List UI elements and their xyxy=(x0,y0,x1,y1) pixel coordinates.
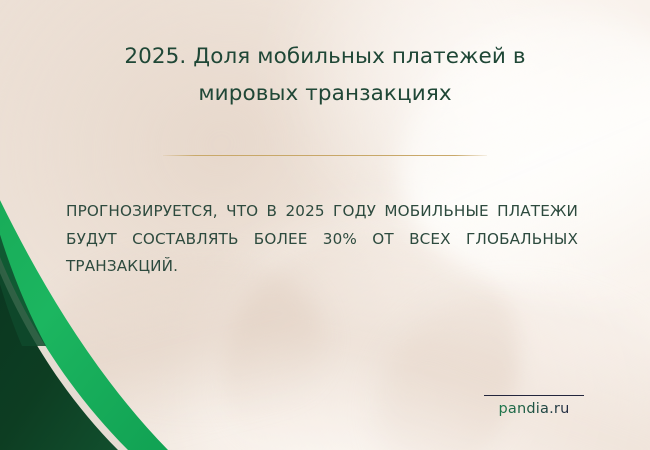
slide-canvas: 2025. Доля мобильных платежей в мировых … xyxy=(0,0,650,450)
title-line-2: мировых транзакциях xyxy=(72,75,578,112)
footer: pandia.ru xyxy=(478,395,590,418)
page-title: 2025. Доля мобильных платежей в мировых … xyxy=(0,38,650,112)
body-paragraph: ПРОГНОЗИРУЕТСЯ, ЧТО В 2025 ГОДУ МОБИЛЬНЫ… xyxy=(66,198,578,281)
slide-content: 2025. Доля мобильных платежей в мировых … xyxy=(0,0,650,450)
title-divider xyxy=(163,155,487,156)
brand-watermark: pandia.ru xyxy=(499,401,570,417)
title-line-1: 2025. Доля мобильных платежей в xyxy=(72,38,578,75)
footer-divider xyxy=(484,395,584,396)
